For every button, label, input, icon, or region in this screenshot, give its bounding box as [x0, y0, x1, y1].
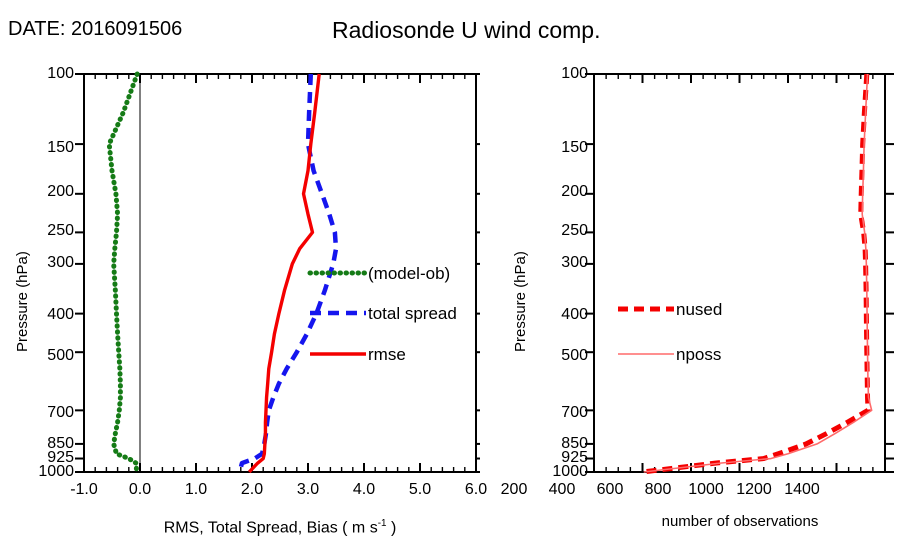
- chart-page: DATE: 2016091506 Radiosonde U wind comp.…: [0, 0, 900, 560]
- right-panel: Pressure (hPa) number of observations 10…: [480, 0, 900, 560]
- left-x-axis-title-text: RMS, Total Spread, Bias ( m s: [164, 519, 378, 536]
- left-panel: Pressure (hPa) RMS, Total Spread, Bias (…: [0, 0, 480, 560]
- left-legend-label-1: total spread: [368, 304, 457, 324]
- left-x-axis-title: RMS, Total Spread, Bias ( m s-1 ): [84, 518, 476, 537]
- left-legend-label-0: (model-ob): [368, 264, 450, 284]
- left-x-axis-title-suffix: ): [387, 519, 397, 536]
- right-x-axis-title: number of observations: [594, 513, 886, 530]
- right-legend-label-0: nused: [676, 300, 722, 320]
- left-legend-label-2: rmse: [368, 345, 406, 365]
- left-x-axis-title-exponent: -1: [378, 518, 387, 529]
- right-plot-area: [480, 0, 900, 500]
- right-legend-label-1: nposs: [676, 345, 721, 365]
- left-plot-area: [0, 0, 480, 500]
